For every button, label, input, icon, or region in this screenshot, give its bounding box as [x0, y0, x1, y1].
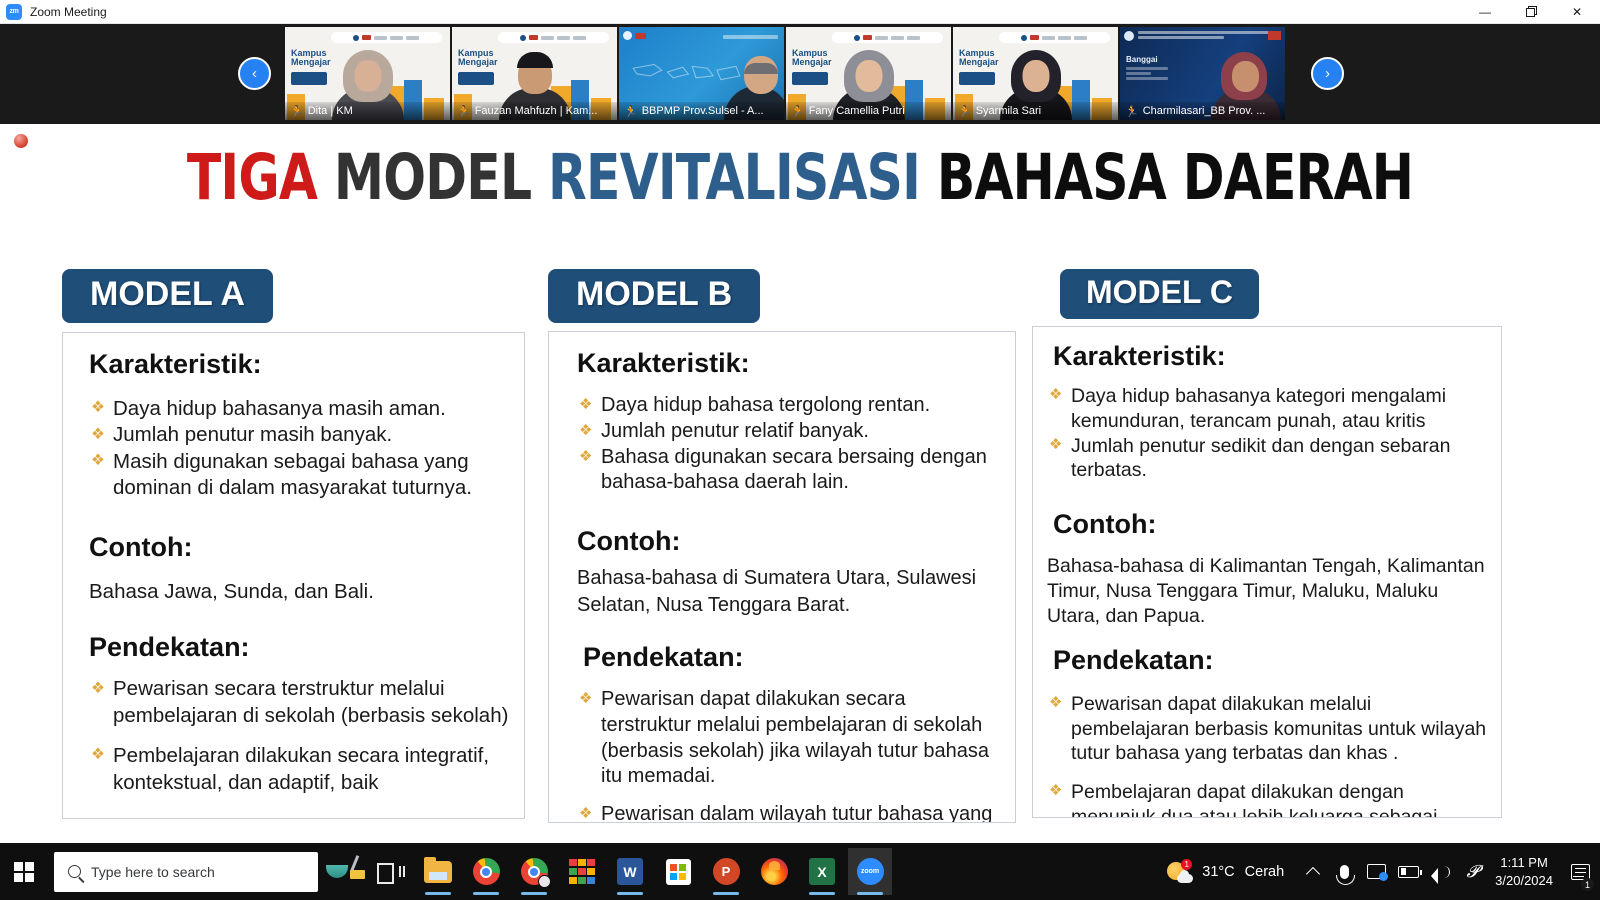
slide-title: TIGA MODEL REVITALISASI BAHASA DAERAH — [160, 146, 1440, 209]
window-titlebar: zm Zoom Meeting — ✕ — [0, 0, 1600, 24]
cover-title: Banggai — [1126, 55, 1158, 64]
participant-tile[interactable]: KampusMengajar 🏃 Fany Camellia Putri — [786, 27, 951, 120]
participant-name-label: 🏃 Fauzan Mahfuzh | Kam... — [452, 102, 617, 120]
list-item: ❖Pewarisan dalam wilayah tutur bahasa ya… — [577, 802, 1001, 823]
km-brand-text: KampusMengajar — [792, 49, 832, 68]
app-grid-icon[interactable] — [560, 848, 604, 895]
minimize-button[interactable]: — — [1462, 0, 1508, 24]
cortana-icon[interactable] — [320, 855, 354, 889]
model-c-karakteristik-list: ❖Daya hidup bahasanya kategori mengalami… — [1047, 384, 1487, 483]
heading-karakteristik: Karakteristik: — [89, 349, 510, 380]
weather-condition: Cerah — [1245, 864, 1285, 880]
weather-icon: 1 — [1167, 860, 1193, 884]
microphone-icon[interactable] — [1329, 843, 1360, 900]
heading-pendekatan: Pendekatan: — [89, 632, 510, 663]
model-b-card: Karakteristik: ❖Daya hidup bahasa tergol… — [548, 331, 1016, 823]
diamond-bullet-icon: ❖ — [1049, 388, 1062, 403]
model-b-badge: MODEL B — [548, 269, 760, 323]
km-brand-text: KampusMengajar — [291, 49, 331, 68]
participant-name-label: 🏃 Fany Camellia Putri — [786, 102, 951, 120]
title-word-model: MODEL — [334, 141, 531, 214]
km-logo-bar — [498, 32, 609, 43]
runner-icon: 🏃 — [1125, 105, 1139, 118]
list-item: ❖Pewarisan dapat dilakukan secara terstr… — [577, 687, 1001, 790]
cover-subtitle — [1126, 67, 1168, 82]
diamond-bullet-icon: ❖ — [91, 400, 105, 416]
chevron-up-icon — [1306, 866, 1320, 880]
excel-icon[interactable]: X — [800, 848, 844, 895]
chrome-profile-icon[interactable] — [512, 848, 556, 895]
indonesia-map-icon — [629, 53, 744, 93]
participant-name-label: 🏃 Charmilasari_BB Prov. ... — [1120, 102, 1285, 120]
list-item: ❖Jumlah penutur relatif banyak. — [577, 419, 1001, 445]
diamond-bullet-icon: ❖ — [579, 449, 593, 464]
list-item: ❖Daya hidup bahasanya masih aman. — [89, 396, 510, 422]
diamond-bullet-icon: ❖ — [579, 806, 593, 821]
title-word-bahasa-daerah: BAHASA DAERAH — [937, 141, 1413, 214]
list-item: ❖Pewarisan dapat dilakukan melalui pembe… — [1047, 692, 1487, 766]
diamond-bullet-icon: ❖ — [1049, 784, 1062, 799]
heading-pendekatan: Pendekatan: — [1047, 645, 1487, 676]
maximize-button[interactable] — [1508, 0, 1554, 24]
heading-contoh: Contoh: — [1047, 509, 1487, 540]
close-button[interactable]: ✕ — [1554, 0, 1600, 24]
battery-icon[interactable] — [1393, 843, 1424, 900]
search-icon — [68, 865, 81, 878]
model-b-column: MODEL B Karakteristik: ❖Daya hidup bahas… — [500, 269, 995, 843]
model-a-badge: MODEL A — [62, 269, 273, 323]
window-controls: — ✕ — [1462, 0, 1600, 24]
weather-temperature: 31°C — [1202, 864, 1234, 880]
km-logo-bar — [331, 32, 442, 43]
model-a-contoh-text: Bahasa Jawa, Sunda, dan Bali. — [89, 579, 510, 605]
title-word-revitalisasi: REVITALISASI — [548, 141, 920, 214]
notification-center-button[interactable]: 1 — [1564, 843, 1596, 900]
participant-name-label: 🏃 BBPMP Prov.Sulsel - A... — [619, 102, 784, 120]
bbpmp-logo-bar — [623, 31, 646, 40]
model-b-contoh-text: Bahasa-bahasa di Sumatera Utara, Sulawes… — [577, 565, 1001, 618]
restore-icon — [1526, 6, 1537, 17]
km-logo-bar — [999, 32, 1110, 43]
pen-menu-icon[interactable]: 𝓟 — [1457, 843, 1488, 900]
diamond-bullet-icon: ❖ — [91, 681, 105, 697]
window-title: Zoom Meeting — [30, 5, 107, 19]
diamond-bullet-icon: ❖ — [579, 423, 593, 438]
runner-icon: 🏃 — [457, 105, 471, 118]
weather-widget[interactable]: 1 31°C Cerah — [1155, 860, 1296, 884]
list-item: ❖Jumlah penutur masih banyak. — [89, 422, 510, 448]
file-explorer-icon[interactable] — [416, 848, 460, 895]
diamond-bullet-icon: ❖ — [91, 747, 105, 763]
shared-screen-slide: TIGA MODEL REVITALISASI BAHASA DAERAH MO… — [0, 124, 1600, 843]
list-item: ❖Pembelajaran dapat dilakukan dengan men… — [1047, 780, 1487, 818]
list-item: ❖Masih digunakan sebagai bahasa yang dom… — [89, 449, 510, 502]
next-participants-button[interactable]: › — [1311, 57, 1344, 90]
participant-name-label: 🏃 Dita | KM — [285, 102, 450, 120]
weather-badge: 1 — [1181, 859, 1192, 870]
diamond-bullet-icon: ❖ — [1049, 696, 1062, 711]
system-tray: 1 31°C Cerah 𝓟 1:11 PM 3/20/2024 1 — [1155, 843, 1600, 900]
list-item: ❖Pembelajaran dilakukan secara integrati… — [89, 743, 510, 796]
clock[interactable]: 1:11 PM 3/20/2024 — [1489, 854, 1563, 888]
participant-tile[interactable]: KampusMengajar 🏃 Fauzan Mahfuzh | Kam... — [452, 27, 617, 120]
model-c-pendekatan-list: ❖Pewarisan dapat dilakukan melalui pembe… — [1047, 692, 1487, 818]
participant-tiles: KampusMengajar 🏃 Dita | KM — [285, 27, 1285, 120]
flag-icon — [1268, 31, 1281, 40]
heading-contoh: Contoh: — [577, 526, 1001, 557]
participant-tile[interactable]: KampusMengajar 🏃 Syarmila Sari — [953, 27, 1118, 120]
km-logo-bar — [832, 32, 943, 43]
microsoft-store-icon[interactable] — [656, 848, 700, 895]
prev-participants-button[interactable]: ‹ — [238, 57, 271, 90]
heading-karakteristik: Karakteristik: — [1047, 341, 1487, 372]
model-a-karakteristik-list: ❖Daya hidup bahasanya masih aman. ❖Jumla… — [89, 396, 510, 502]
model-c-column: MODEL C Karakteristik: ❖Daya hidup bahas… — [995, 269, 1535, 843]
list-item: ❖Jumlah penutur sedikit dan dengan sebar… — [1047, 434, 1487, 484]
start-button[interactable] — [0, 843, 48, 900]
diamond-bullet-icon: ❖ — [91, 427, 105, 443]
notification-count-badge: 1 — [1581, 878, 1594, 891]
runner-icon: 🏃 — [791, 105, 805, 118]
participant-video-strip: ‹ › KampusMengajar 🏃 Dita | K — [0, 24, 1600, 124]
diamond-bullet-icon: ❖ — [579, 691, 593, 706]
model-b-pendekatan-list: ❖Pewarisan dapat dilakukan secara terstr… — [577, 687, 1001, 823]
show-hidden-icons-button[interactable] — [1297, 843, 1328, 900]
model-c-badge: MODEL C — [1060, 269, 1259, 319]
runner-icon: 🏃 — [624, 105, 638, 118]
participant-tile[interactable]: 🏃 BBPMP Prov.Sulsel - A... — [619, 27, 784, 120]
taskbar-app-icons: W P X zoom — [368, 848, 892, 895]
model-c-contoh-text: Bahasa-bahasa di Kalimantan Tengah, Kali… — [1047, 554, 1487, 629]
km-brand-text: KampusMengajar — [959, 49, 999, 68]
title-word-tiga: TIGA — [187, 141, 317, 214]
cover-logo-bar — [1124, 31, 1281, 41]
list-item: ❖Bahasa digunakan secara bersaing dengan… — [577, 445, 1001, 497]
chrome-icon[interactable] — [464, 848, 508, 895]
list-item: ❖Daya hidup bahasanya kategori mengalami… — [1047, 384, 1487, 434]
diamond-bullet-icon: ❖ — [1049, 438, 1062, 453]
list-item: ❖Pewarisan secara terstruktur melalui pe… — [89, 676, 510, 729]
display-settings-icon[interactable] — [1361, 843, 1392, 900]
list-item: ❖Daya hidup bahasa tergolong rentan. — [577, 393, 1001, 419]
clock-time: 1:11 PM — [1495, 854, 1553, 871]
search-placeholder: Type here to search — [91, 864, 215, 880]
model-columns: MODEL A Karakteristik: ❖Daya hidup bahas… — [0, 269, 1600, 843]
diamond-bullet-icon: ❖ — [91, 453, 105, 469]
model-a-card: Karakteristik: ❖Daya hidup bahasanya mas… — [62, 332, 525, 819]
participant-name-label: 🏃 Syarmila Sari — [953, 102, 1118, 120]
model-b-karakteristik-list: ❖Daya hidup bahasa tergolong rentan. ❖Ju… — [577, 393, 1001, 496]
windows-taskbar: Type here to search W — [0, 843, 1600, 900]
model-c-card: Karakteristik: ❖Daya hidup bahasanya kat… — [1032, 326, 1502, 818]
model-a-column: MODEL A Karakteristik: ❖Daya hidup bahas… — [0, 269, 500, 843]
windows-logo-icon — [14, 862, 34, 882]
word-icon[interactable]: W — [608, 848, 652, 895]
km-brand-text: KampusMengajar — [458, 49, 498, 68]
firefox-icon[interactable] — [752, 848, 796, 895]
participant-tile[interactable]: Banggai 🏃 Charmilasari_BB Prov. ... — [1120, 27, 1285, 120]
model-a-pendekatan-list: ❖Pewarisan secara terstruktur melalui pe… — [89, 676, 510, 796]
runner-icon: 🏃 — [290, 105, 304, 118]
participant-tile[interactable]: KampusMengajar 🏃 Dita | KM — [285, 27, 450, 120]
search-input[interactable]: Type here to search — [54, 852, 318, 892]
recording-indicator-icon — [14, 134, 28, 148]
heading-pendekatan: Pendekatan: — [577, 642, 1001, 673]
runner-icon: 🏃 — [958, 105, 972, 118]
zoom-icon[interactable]: zoom — [848, 848, 892, 895]
heading-contoh: Contoh: — [89, 532, 510, 563]
clock-date: 3/20/2024 — [1495, 872, 1553, 889]
volume-icon[interactable] — [1425, 843, 1456, 900]
powerpoint-icon[interactable]: P — [704, 848, 748, 895]
task-view-button[interactable] — [368, 848, 412, 895]
slide-heading-bar — [723, 35, 778, 39]
zoom-logo-icon: zm — [6, 4, 22, 20]
diamond-bullet-icon: ❖ — [579, 397, 593, 412]
heading-karakteristik: Karakteristik: — [577, 348, 1001, 379]
